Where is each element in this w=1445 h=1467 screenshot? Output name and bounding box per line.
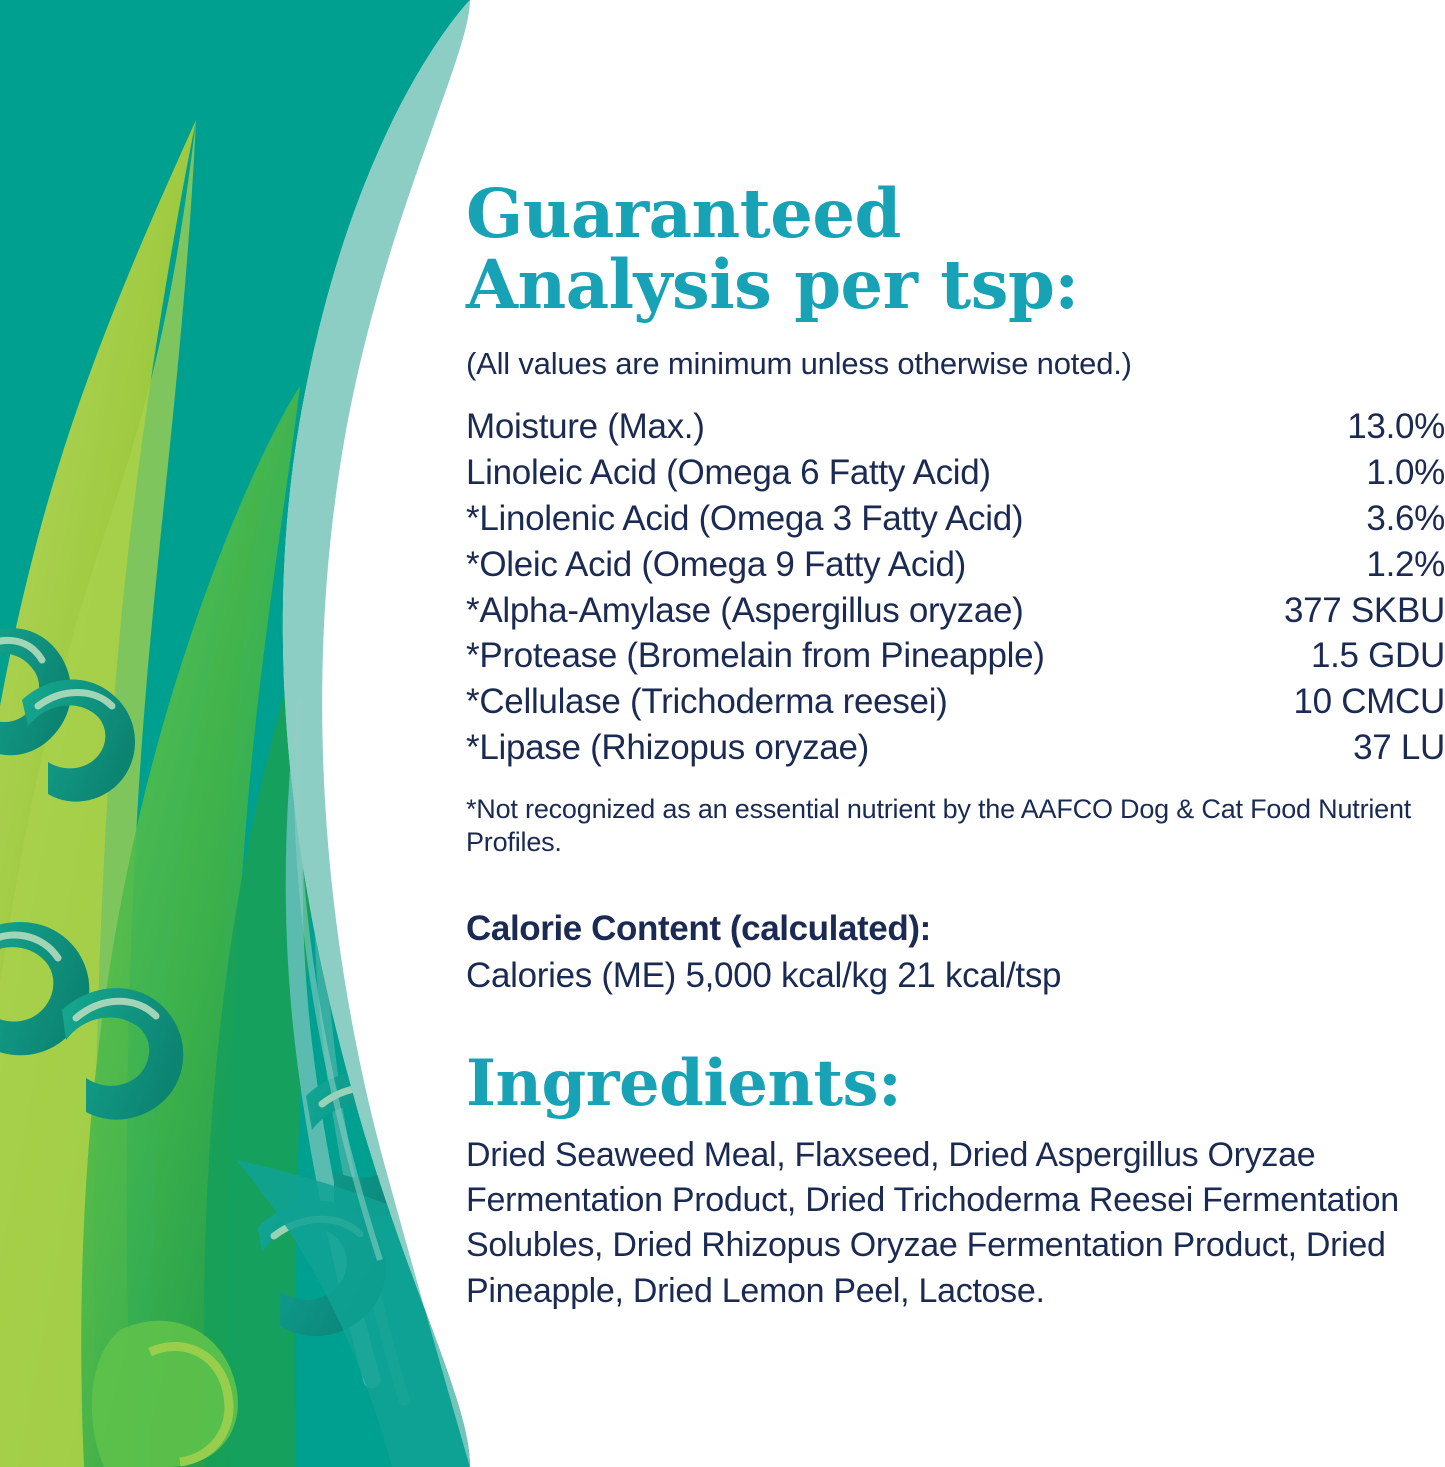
analysis-row: *Protease (Bromelain from Pineapple) 1.5… <box>466 633 1445 679</box>
analysis-row-value: 13.0% <box>1347 404 1445 450</box>
analysis-row-value: 377 SKBU <box>1284 588 1445 634</box>
analysis-row-value: 3.6% <box>1366 496 1445 542</box>
analysis-row-value: 1.2% <box>1366 542 1445 588</box>
analysis-row: *Alpha-Amylase (Aspergillus oryzae) 377 … <box>466 588 1445 634</box>
guaranteed-analysis-heading: Guaranteed Analysis per tsp: <box>466 0 1445 320</box>
calorie-content-value: Calories (ME) 5,000 kcal/kg 21 kcal/tsp <box>466 950 1445 998</box>
dotted-leader <box>968 575 1361 576</box>
ingredients-heading: Ingredients: <box>466 998 1445 1117</box>
analysis-row: *Cellulase (Trichoderma reesei) 10 CMCU <box>466 679 1445 725</box>
analysis-row-label: *Linolenic Acid (Omega 3 Fatty Acid) <box>466 496 1023 542</box>
analysis-row: *Linolenic Acid (Omega 3 Fatty Acid) 3.6… <box>466 496 1445 542</box>
analysis-row-value: 37 LU <box>1353 725 1445 771</box>
guaranteed-analysis-subtitle: (All values are minimum unless otherwise… <box>466 320 1445 382</box>
analysis-row: *Lipase (Rhizopus oryzae) 37 LU <box>466 725 1445 771</box>
aafco-footnote: *Not recognized as an essential nutrient… <box>466 771 1416 860</box>
analysis-row-label: *Protease (Bromelain from Pineapple) <box>466 633 1045 679</box>
dotted-leader <box>1025 529 1361 530</box>
analysis-row-value: 1.5 GDU <box>1311 633 1445 679</box>
analysis-row-label: *Cellulase (Trichoderma reesei) <box>466 679 948 725</box>
analysis-row-value: 10 CMCU <box>1293 679 1445 725</box>
dotted-leader <box>950 712 1289 713</box>
analysis-row-value: 1.0% <box>1366 450 1445 496</box>
analysis-row-label: *Lipase (Rhizopus oryzae) <box>466 725 869 771</box>
analysis-row-label: Linoleic Acid (Omega 6 Fatty Acid) <box>466 450 991 496</box>
calorie-content-block: Calorie Content (calculated): Calories (… <box>466 860 1445 998</box>
analysis-row-label: Moisture (Max.) <box>466 404 705 450</box>
dotted-leader <box>1026 621 1279 622</box>
dotted-leader <box>707 437 1343 438</box>
dotted-leader <box>871 758 1348 759</box>
dotted-leader <box>993 483 1362 484</box>
label-content: Guaranteed Analysis per tsp: (All values… <box>466 0 1445 1467</box>
analysis-row: Moisture (Max.) 13.0% <box>466 404 1445 450</box>
calorie-content-title: Calorie Content (calculated): <box>466 908 1445 950</box>
ingredients-list: Dried Seaweed Meal, Flaxseed, Dried Aspe… <box>466 1117 1426 1314</box>
analysis-row-label: *Alpha-Amylase (Aspergillus oryzae) <box>466 588 1024 634</box>
product-label-panel: Guaranteed Analysis per tsp: (All values… <box>0 0 1445 1467</box>
analysis-row-label: *Oleic Acid (Omega 9 Fatty Acid) <box>466 542 966 588</box>
analysis-row: Linoleic Acid (Omega 6 Fatty Acid) 1.0% <box>466 450 1445 496</box>
analysis-row: *Oleic Acid (Omega 9 Fatty Acid) 1.2% <box>466 542 1445 588</box>
seaweed-artwork <box>0 0 470 1467</box>
dotted-leader <box>1047 666 1306 667</box>
analysis-rows: Moisture (Max.) 13.0% Linoleic Acid (Ome… <box>466 404 1445 771</box>
